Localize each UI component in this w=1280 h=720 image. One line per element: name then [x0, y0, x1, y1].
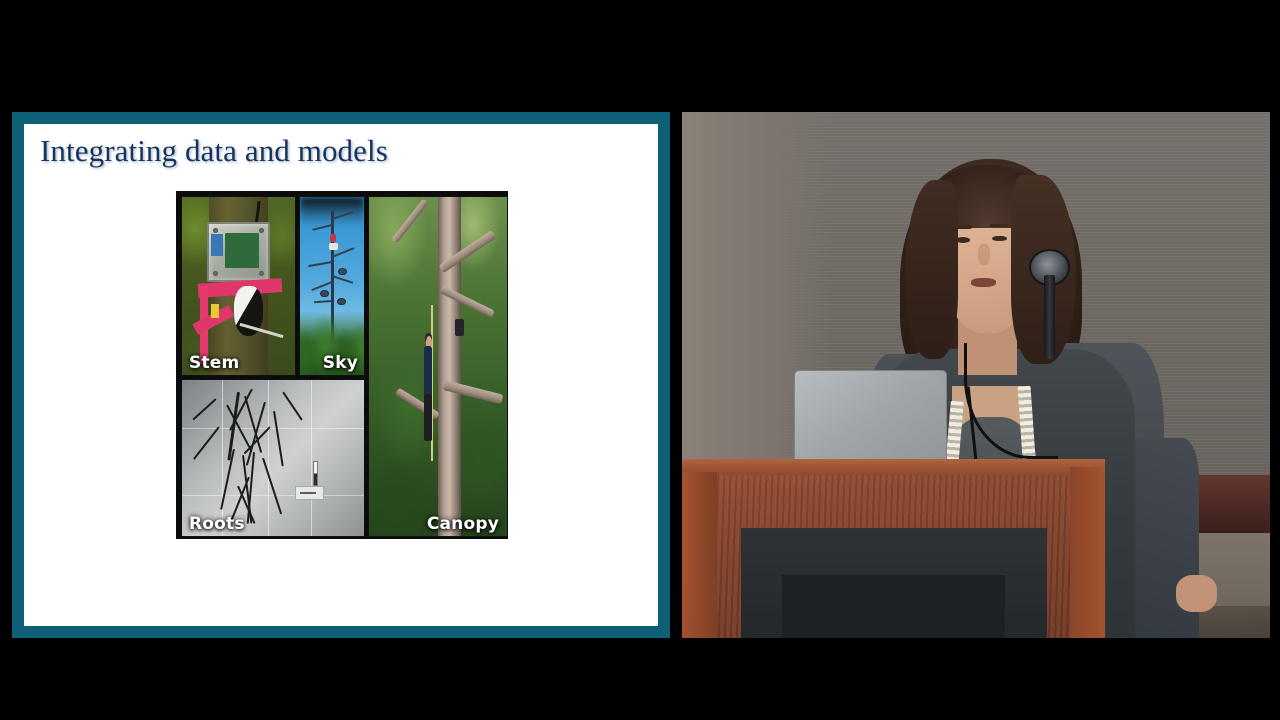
- speaker-nose: [978, 244, 990, 265]
- apple-logo-icon: [853, 407, 879, 437]
- roots-sample-label-tag: [295, 486, 324, 500]
- canopy-climber-legs: [424, 394, 432, 441]
- sky-red-instrument: [330, 234, 336, 242]
- screen-root: Integrating data and models: [0, 0, 1280, 720]
- collage-label-roots: Roots: [189, 514, 245, 534]
- stem-screw-icon: [259, 228, 264, 233]
- speaker-eyebrow-right: [990, 224, 1009, 228]
- podium-top-edge: [682, 459, 1105, 475]
- photo-collage: Stem: [176, 191, 508, 539]
- roots-tarp-crease: [222, 380, 223, 536]
- collage-photo-canopy: Canopy: [368, 196, 508, 537]
- stem-screw-icon: [259, 271, 264, 276]
- roots-tarp-crease: [311, 380, 312, 536]
- slide-pane[interactable]: Integrating data and models: [12, 112, 670, 638]
- canopy-climber-torso: [424, 346, 432, 397]
- stem-screw-icon: [213, 228, 218, 233]
- stem-circuit-board: [225, 233, 259, 269]
- collage-photo-roots: Roots: [181, 379, 365, 537]
- collage-photo-sky: Sky: [299, 196, 365, 376]
- canopy-main-trunk: [438, 197, 461, 536]
- sky-radiometer-icon: [320, 290, 329, 297]
- canopy-mounted-instrument: [455, 319, 465, 336]
- podium-front-panel-inner: [782, 575, 1005, 638]
- stem-screw-icon: [213, 271, 218, 276]
- page-title: Integrating data and models: [40, 133, 388, 169]
- collage-label-canopy: Canopy: [427, 514, 499, 534]
- speaker-hand: [1176, 575, 1217, 612]
- speaker-hair-left: [905, 180, 958, 359]
- roots-tarp-crease: [268, 380, 269, 536]
- speaker-eye-right: [992, 236, 1006, 242]
- speaker-eyebrow-left: [954, 225, 973, 229]
- roots-tarp-crease: [182, 428, 364, 429]
- podium-right-side: [1070, 467, 1105, 638]
- speaker-mouth: [971, 278, 996, 287]
- sky-white-instrument: [329, 243, 338, 250]
- collage-label-stem: Stem: [189, 353, 239, 373]
- collage-photo-stem: Stem: [181, 196, 296, 376]
- roots-scale-bar: [313, 461, 318, 486]
- collage-label-sky: Sky: [323, 353, 358, 373]
- stem-yellow-marker: [211, 304, 219, 318]
- podium-left-side: [682, 472, 717, 638]
- roots-tarp-crease: [182, 495, 364, 496]
- speaker-eye-left: [956, 237, 970, 243]
- speaker-video-pane[interactable]: [682, 112, 1270, 638]
- slide-surface: Integrating data and models: [24, 124, 658, 626]
- stem-blue-component: [211, 234, 222, 255]
